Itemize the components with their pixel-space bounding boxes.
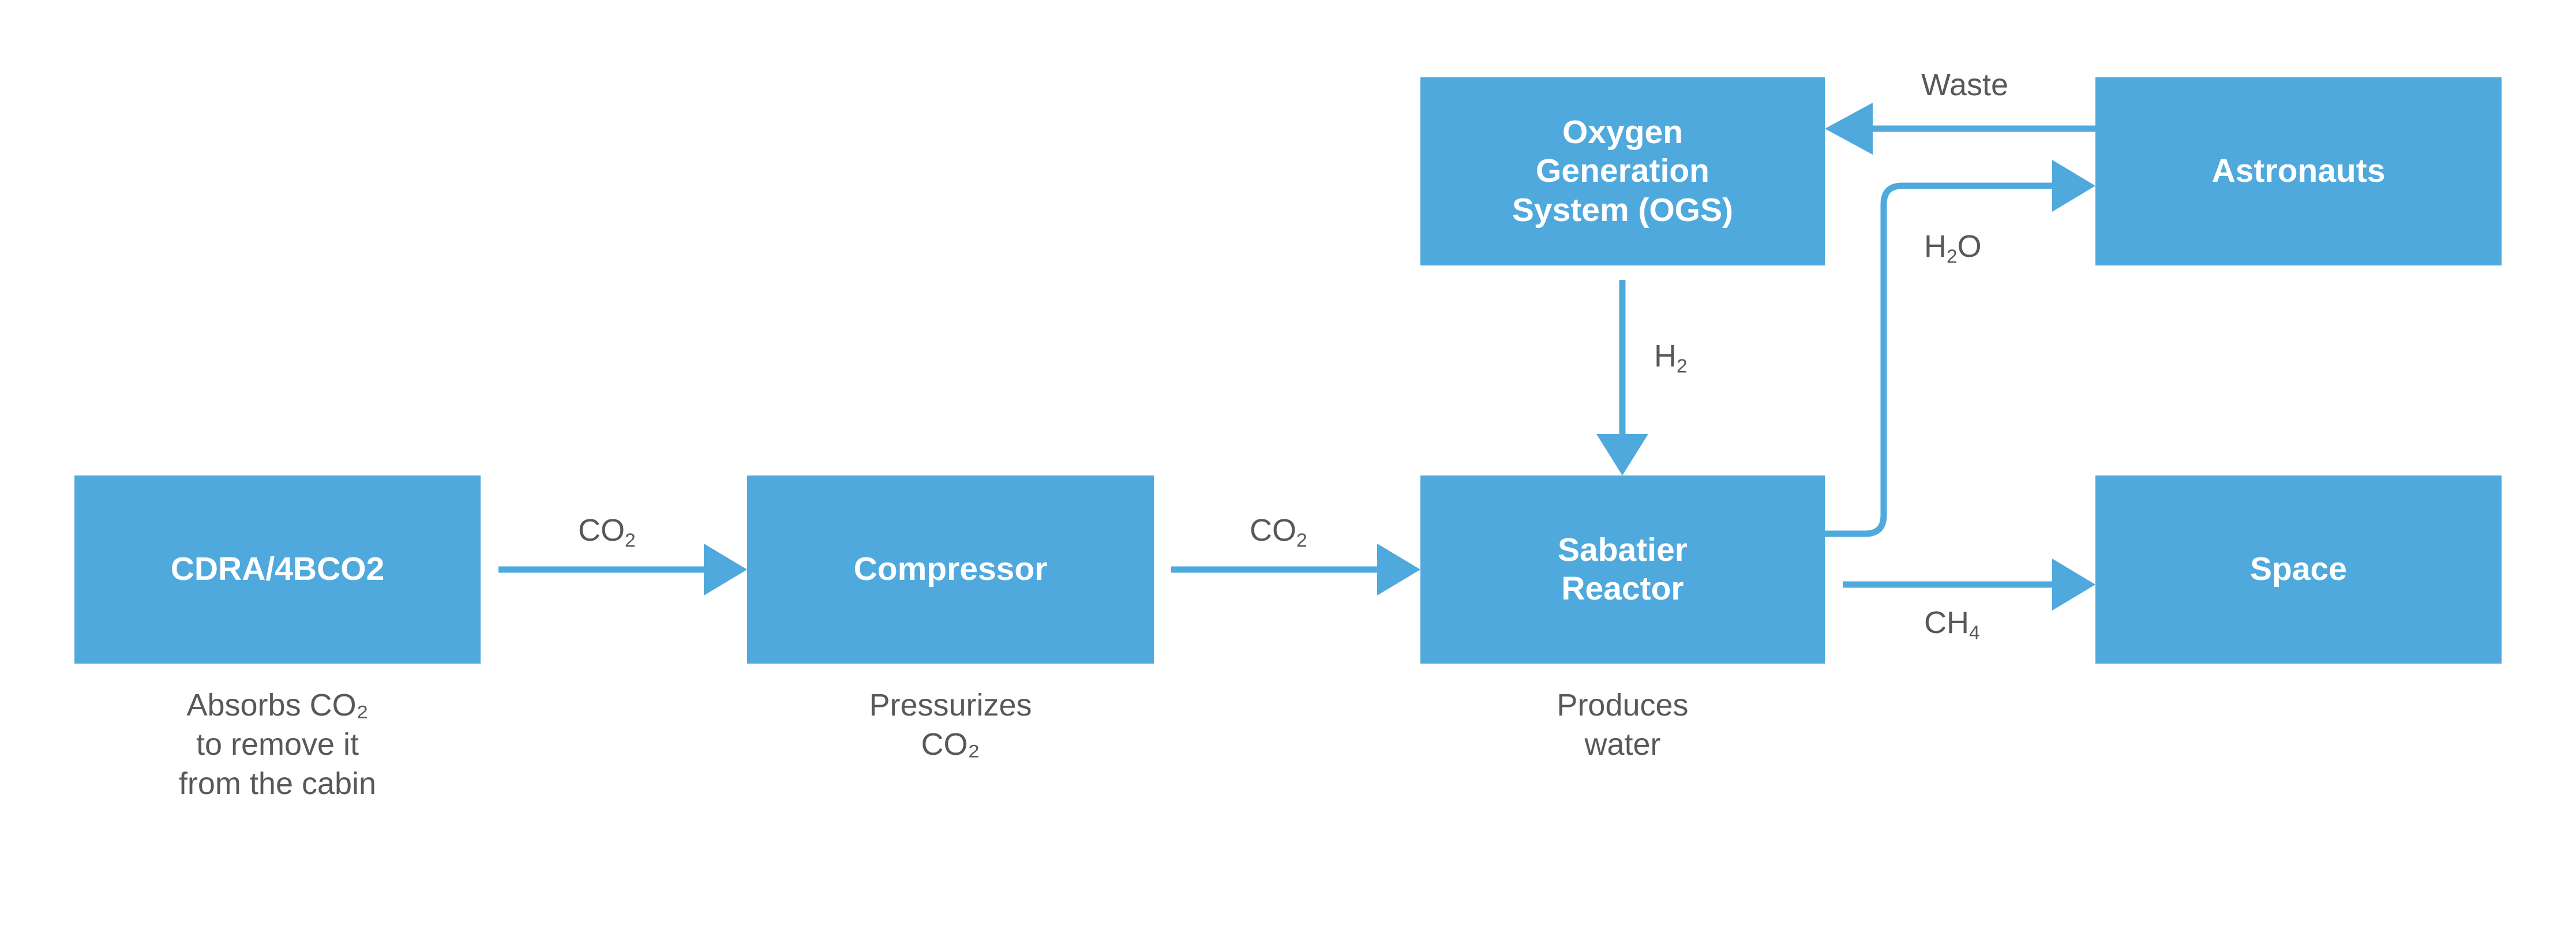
node-sabatier-reactor[interactable]: Sabatier Reactor: [1420, 475, 1825, 664]
edge-h2-ogs-to-sabatier: [1596, 280, 1648, 475]
edge-label-h2: H2: [1654, 340, 1688, 376]
node-ogs-label: Oxygen Generation System (OGS): [1506, 113, 1739, 230]
node-astronauts-label: Astronauts: [2206, 152, 2391, 190]
node-cdra-label: CDRA/4BCO2: [165, 550, 391, 589]
edge-ch4-sabatier-to-space: [1843, 559, 2095, 611]
edge-co2-compressor-to-sabatier: [1171, 544, 1420, 596]
node-compressor[interactable]: Compressor: [747, 475, 1154, 664]
edge-label-co2-cdra-to-compressor: CO2: [578, 515, 636, 550]
node-sabatier-label: Sabatier Reactor: [1552, 531, 1693, 609]
node-cdra[interactable]: CDRA/4BCO2: [74, 475, 481, 664]
edge-co2-cdra-to-compressor: [498, 544, 747, 596]
edge-h2o-sabatier-to-astronauts: [1825, 160, 2095, 534]
edge-label-ch4: CH4: [1924, 607, 1980, 643]
diagram-canvas: CDRA/4BCO2 Compressor Sabatier Reactor S…: [0, 0, 2576, 925]
caption-compressor: Pressurizes CO₂: [689, 686, 1212, 764]
caption-cdra: Absorbs CO₂ to remove it from the cabin: [17, 686, 538, 803]
caption-sabatier: Produces water: [1363, 686, 1883, 764]
edge-label-waste: Waste: [1921, 69, 2008, 100]
node-space-label: Space: [2244, 550, 2353, 589]
edge-label-h2o: H2O: [1924, 231, 1982, 267]
edge-label-co2-compressor-to-sabatier: CO2: [1250, 515, 1307, 550]
node-space[interactable]: Space: [2095, 475, 2502, 664]
node-oxygen-generation-system[interactable]: Oxygen Generation System (OGS): [1420, 77, 1825, 265]
node-astronauts[interactable]: Astronauts: [2095, 77, 2502, 265]
edge-waste-astronauts-to-ogs: [1825, 103, 2095, 155]
node-compressor-label: Compressor: [848, 550, 1053, 589]
